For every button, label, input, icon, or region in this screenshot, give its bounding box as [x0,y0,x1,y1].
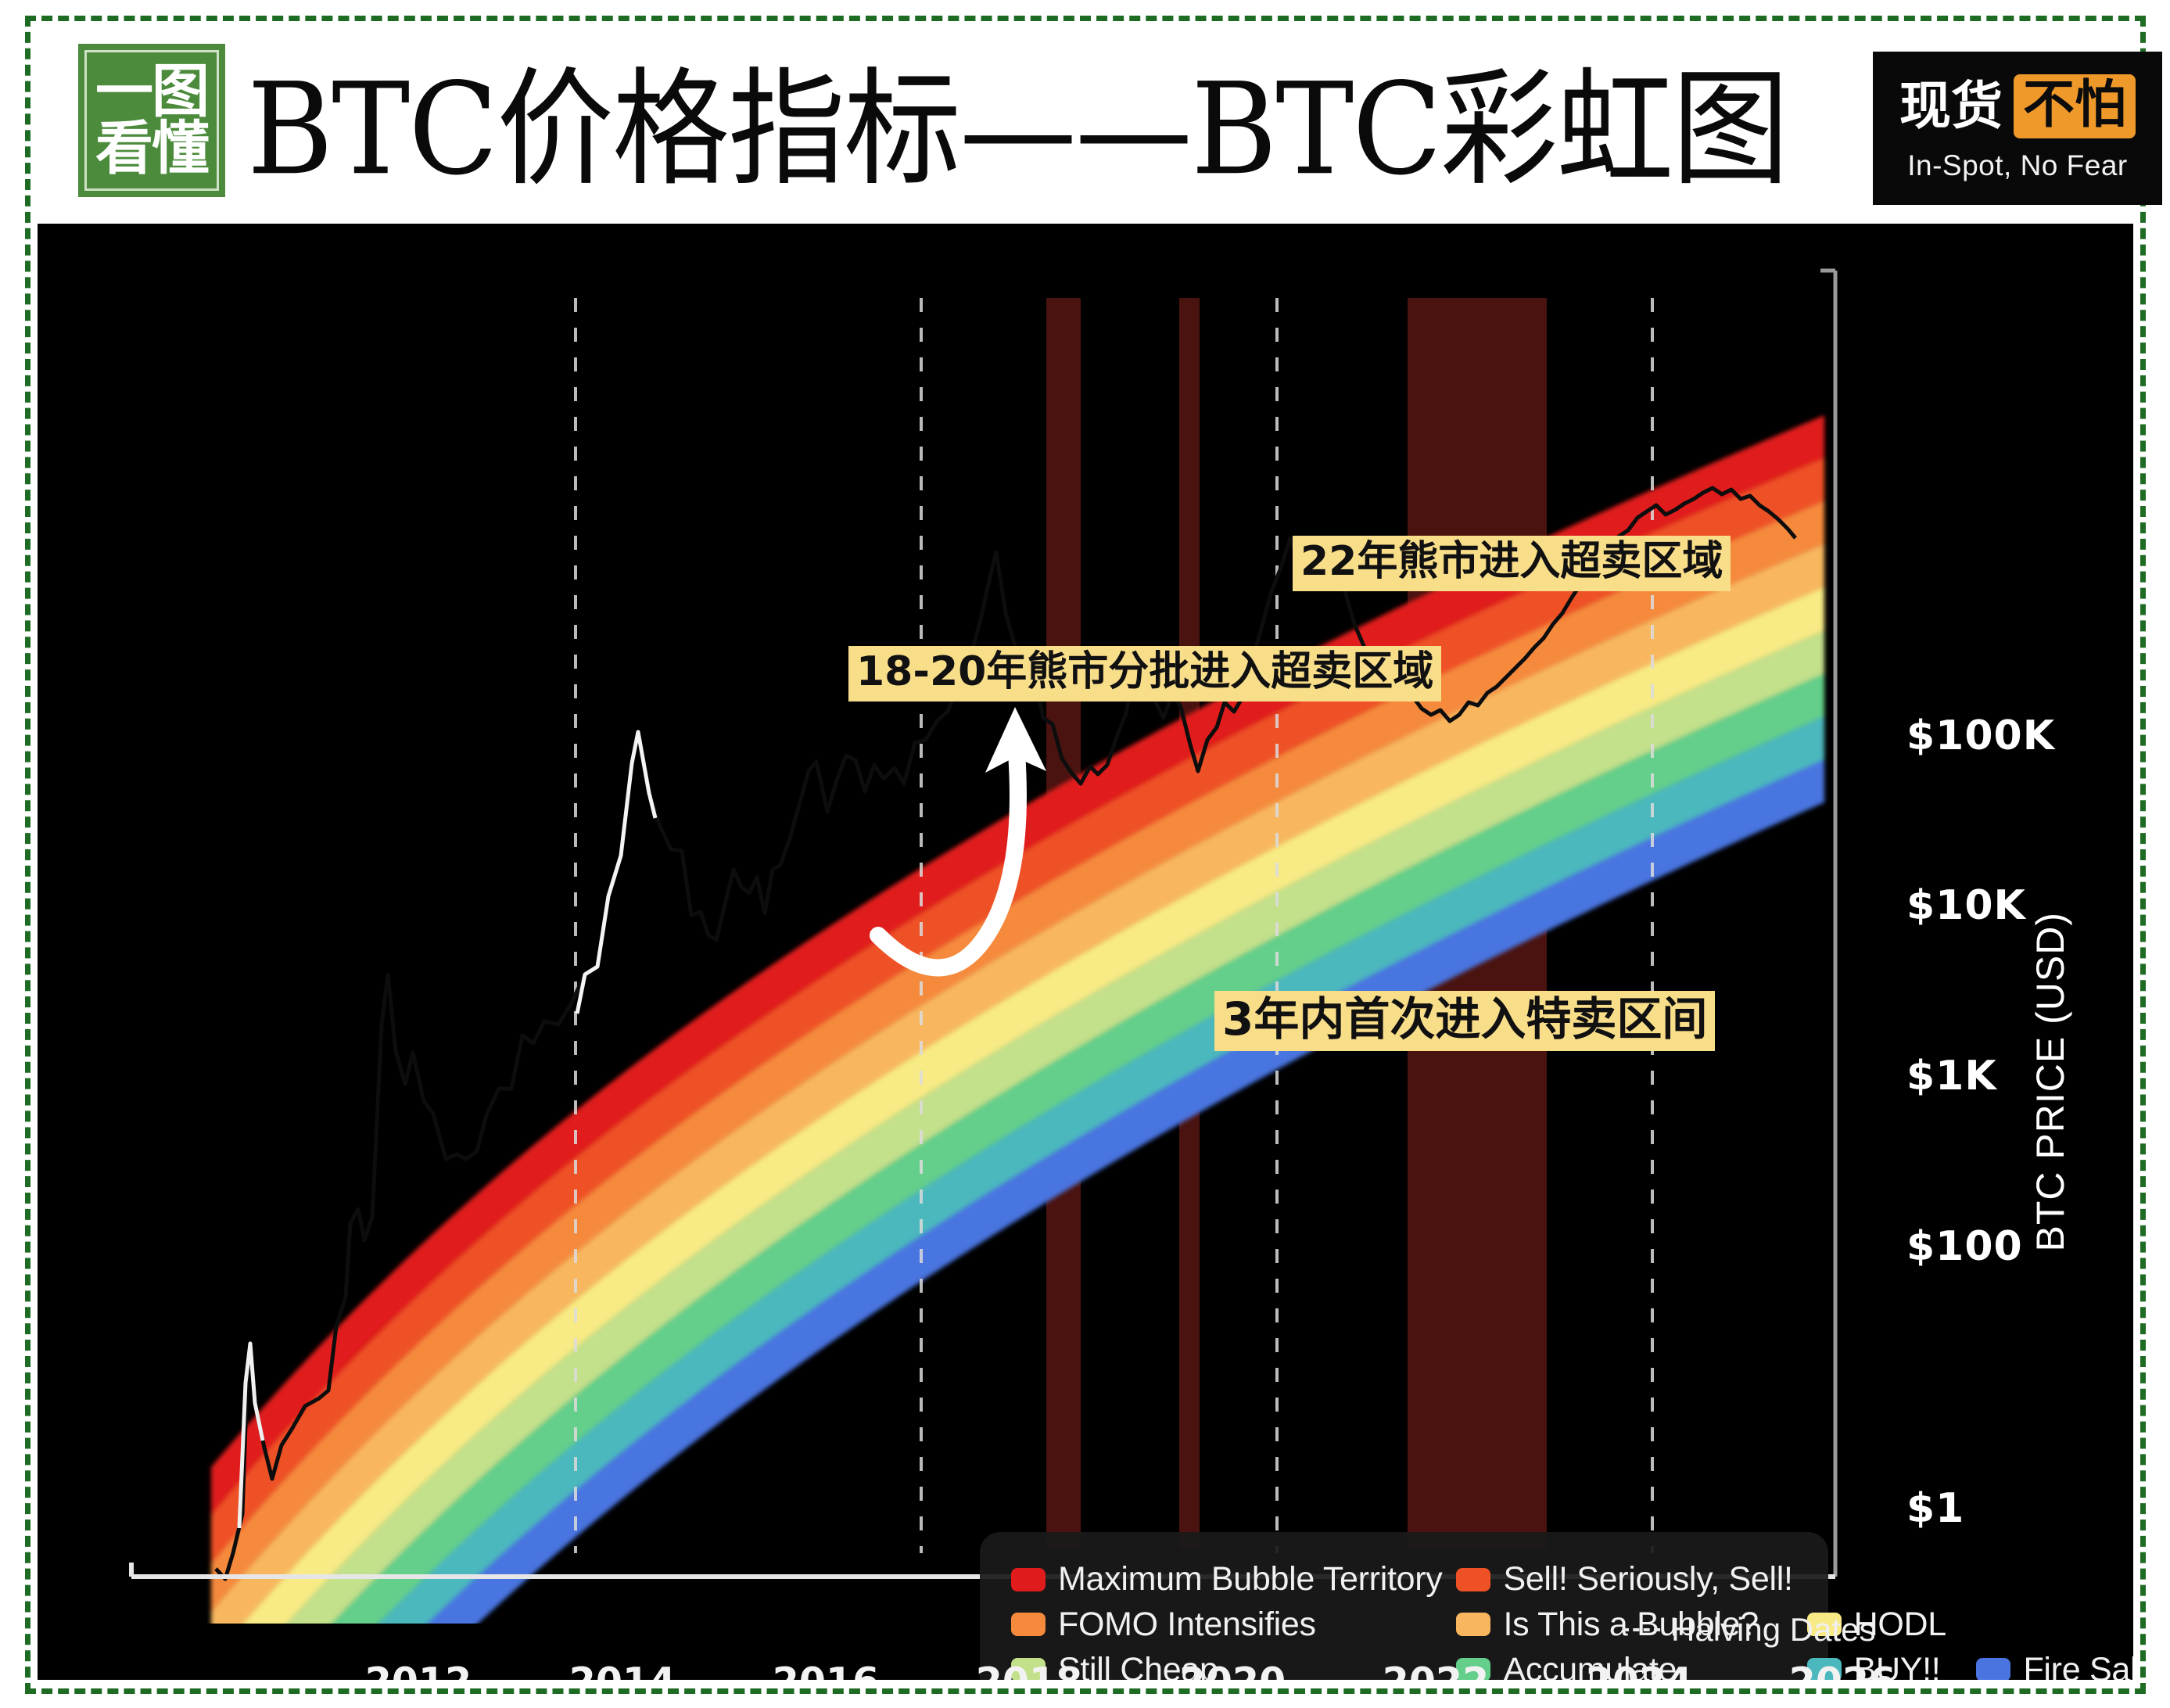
annotation-2022-bear-oversold: 22年熊市进入超卖区域 [1293,536,1731,591]
legend-label: FOMO Intensifies [1058,1606,1316,1644]
badge-text-highlight: 不怕 [2014,74,2136,138]
brand-badge: 现货 不怕 In-Spot, No Fear [1873,52,2162,205]
legend-item-sell-seriously-sell[interactable]: Sell! Seriously, Sell! [1456,1560,1792,1599]
legend-label: Sell! Seriously, Sell! [1503,1560,1792,1599]
x-tick-2018: 2018 [976,1660,1082,1680]
rainbow-chart [38,224,2133,1680]
y-tick-100: $100 [1906,1223,2023,1270]
dashed-line-icon [1623,1628,1660,1631]
y-tick-10k: $10K [1906,882,2026,929]
y-tick-1k: $1K [1906,1053,1997,1100]
legend-label: Maximum Bubble Territory [1058,1560,1442,1599]
legend-swatch-icon [1011,1568,1046,1591]
legend-swatch-icon [1011,1613,1046,1636]
legend-swatch-icon [1456,1568,1490,1591]
brand-logo-inner: 一图 看懂 [84,50,219,191]
x-tick-2026: 2026 [1789,1660,1896,1680]
screenshot-root: 一图 看懂 BTC价格指标——BTC彩虹图 现货 不怕 In-Spot, No … [0,0,2170,1708]
x-tick-2016: 2016 [773,1660,879,1680]
badge-subtitle: In-Spot, No Fear [1907,149,2128,182]
halving-dates-label: Halving Dates [1671,1611,1875,1649]
legend-item-fomo-intensifies[interactable]: FOMO Intensifies [1011,1606,1442,1644]
y-tick-100k: $100K [1906,712,2055,759]
chart-panel: 22年熊市进入超卖区域 18-20年熊市分批进入超卖区域 3年内首次进入特卖区间… [38,224,2133,1680]
halving-dates-note: Halving Dates [1623,1611,1875,1649]
brand-badge-row: 现货 不怕 [1899,74,2136,138]
x-tick-2022: 2022 [1383,1660,1489,1680]
brand-logo: 一图 看懂 [78,44,225,197]
legend-swatch-icon [1456,1613,1490,1636]
badge-text-white: 现货 [1899,81,2003,132]
x-tick-2012: 2012 [365,1660,472,1680]
x-tick-2020: 2020 [1179,1660,1286,1680]
legend-item-maximum-bubble-territory[interactable]: Maximum Bubble Territory [1011,1560,1442,1599]
btc-price-line-highlight [577,732,655,1014]
annotation-1820-bear-oversold: 18-20年熊市分批进入超卖区域 [848,646,1441,701]
page-title: BTC价格指标——BTC彩虹图 [247,30,1803,207]
chart-legend: Maximum Bubble Territory Sell! Seriously… [980,1532,1828,1680]
y-tick-1: $1 [1906,1485,1964,1532]
brand-logo-line-2: 看懂 [95,120,208,178]
annotation-firesale-first-in-3y: 3年内首次进入特卖区间 [1214,991,1715,1051]
y-axis-title: BTC PRICE (USD) [2028,912,2073,1251]
page-header: 一图 看懂 BTC价格指标——BTC彩虹图 现货 不怕 In-Spot, No … [38,28,2133,205]
legend-label-fire-sale: Fire Sale! [2023,1651,2133,1680]
x-tick-2014: 2014 [569,1660,676,1680]
legend-swatch-icon-fire-sale [1976,1658,2010,1680]
x-tick-2024: 2024 [1586,1660,1692,1680]
brand-logo-line-1: 一图 [95,63,208,120]
